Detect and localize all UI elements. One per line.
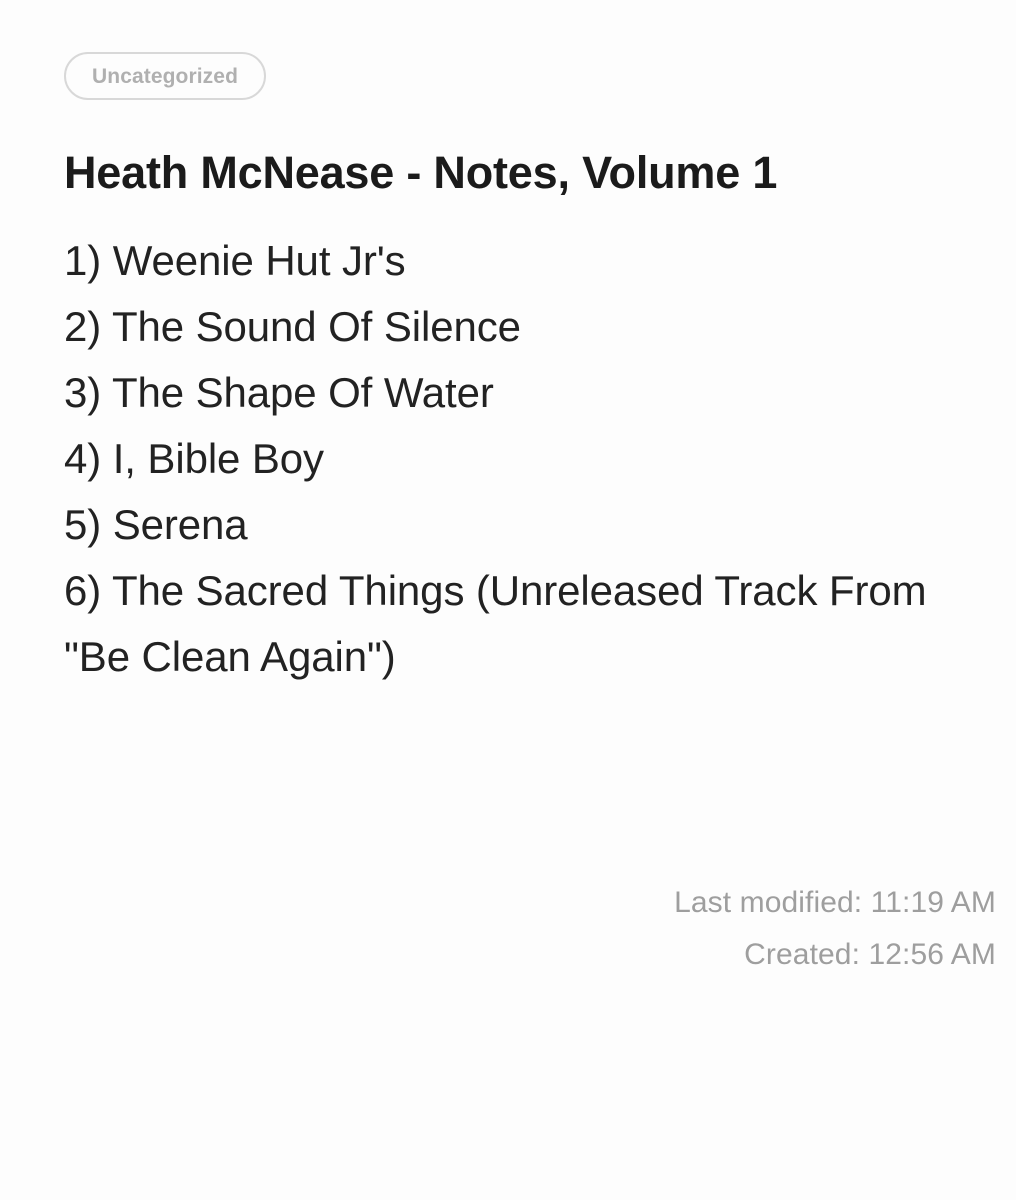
created-timestamp: Created: 12:56 AM [64, 929, 996, 981]
note-line: 1) Weenie Hut Jr's [64, 228, 936, 294]
note-line: 5) Serena [64, 492, 936, 558]
last-modified-timestamp: Last modified: 11:19 AM [64, 877, 996, 929]
category-chip-row: Uncategorized [64, 52, 996, 100]
note-line: 2) The Sound Of Silence [64, 294, 936, 360]
category-chip-uncategorized[interactable]: Uncategorized [64, 52, 266, 100]
note-title: Heath McNease - Notes, Volume 1 [64, 100, 996, 198]
note-body[interactable]: 1) Weenie Hut Jr's 2) The Sound Of Silen… [64, 198, 936, 690]
note-detail-card: Uncategorized Heath McNease - Notes, Vol… [0, 0, 1016, 1200]
note-line: 3) The Shape Of Water [64, 360, 936, 426]
note-footer: Last modified: 11:19 AM Created: 12:56 A… [64, 877, 996, 1200]
note-line: 4) I, Bible Boy [64, 426, 936, 492]
note-line: 6) The Sacred Things (Unreleased Track F… [64, 558, 936, 690]
